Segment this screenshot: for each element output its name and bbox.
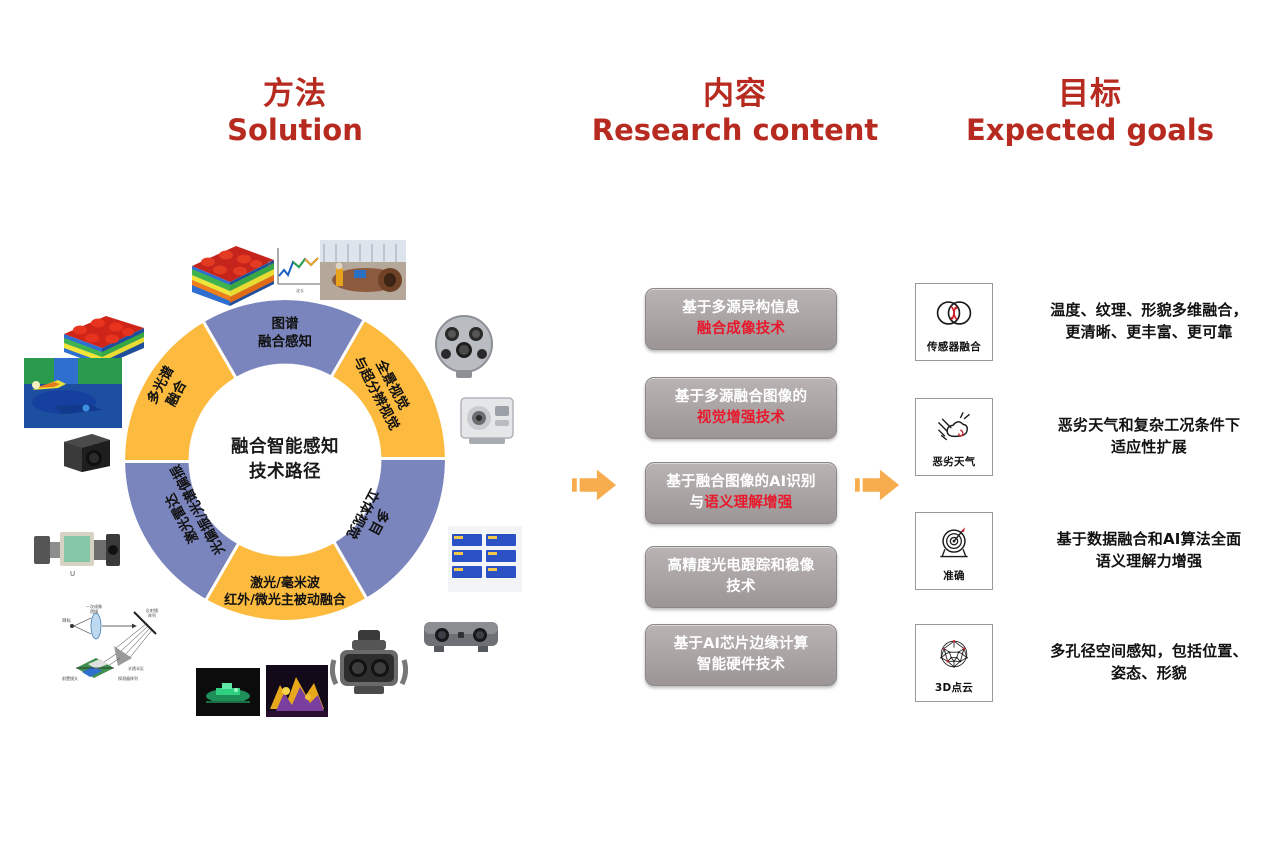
segment-top-line1: 图谱 — [258, 316, 312, 334]
donut-center-line2: 技术路径 — [231, 460, 339, 485]
donut-segment-bottom[interactable]: 激光/毫米波 红外/微光主被动融合 — [224, 576, 346, 610]
goal-row-sensor-fusion[interactable]: 传感器融合 温度、纹理、形貌多维融合， 更清晰、更丰富、更可靠 — [915, 283, 1268, 361]
research-box-4-line1: 高精度光电跟踪和稳像 — [668, 556, 815, 577]
svg-text:透镜: 透镜 — [90, 608, 98, 614]
gimbal-optoelectronic-pod-image — [330, 626, 408, 710]
research-box-5[interactable]: 基于AI芯片边缘计算 智能硬件技术 — [645, 624, 837, 686]
header-content-cn: 内容 — [575, 76, 895, 113]
header-goals-en: Expected goals — [930, 113, 1250, 147]
goal-card-sensor-fusion[interactable]: 传感器融合 — [915, 283, 993, 361]
research-box-2-line1: 基于多源融合图像的 — [675, 387, 807, 408]
goal-text-2-line2: 适应性扩展 — [1019, 437, 1268, 459]
diagram-canvas: 方法 Solution 内容 Research content 目标 Expec… — [0, 0, 1268, 866]
goal-icon-label-bad-weather: 恶劣天气 — [932, 454, 975, 469]
research-box-4[interactable]: 高精度光电跟踪和稳像 技术 — [645, 546, 837, 608]
research-box-3-line2: 语义理解增强 — [704, 495, 792, 511]
column-header-goals: 目标 Expected goals — [930, 76, 1250, 147]
industrial-camera-module-image — [58, 428, 114, 476]
spectral-response-plot-image: 强度 波长 — [268, 242, 328, 298]
column-header-content: 内容 Research content — [575, 76, 895, 147]
segment-bottom-line2: 红外/微光主被动融合 — [224, 593, 346, 610]
goal-card-bad-weather[interactable]: 恶劣天气 — [915, 398, 993, 476]
polarization-camera-image: U — [30, 520, 126, 580]
donut-segment-top[interactable]: 图谱 融合感知 — [258, 316, 312, 351]
thermal-infrared-image — [24, 358, 122, 428]
target-accuracy-icon — [933, 522, 975, 562]
research-box-3[interactable]: 基于融合图像的AI识别 与语义理解增强 — [645, 462, 837, 524]
arrow-solution-to-content — [572, 462, 618, 508]
goal-text-4-line2: 姿态、形貌 — [1019, 663, 1268, 685]
goal-icon-label-sensor-fusion: 传感器融合 — [927, 339, 981, 354]
arrow-content-to-goals — [855, 462, 901, 508]
donut-center-line1: 融合智能感知 — [231, 435, 339, 460]
goal-card-point-cloud[interactable]: 3D点云 — [915, 624, 993, 702]
research-box-2-line2: 视觉增强技术 — [675, 408, 807, 429]
sensor-fusion-icon — [933, 293, 975, 333]
research-box-1[interactable]: 基于多源异构信息 融合成像技术 — [645, 288, 837, 350]
technology-roadmap-donut: 融合智能感知 技术路径 图谱 融合感知 全景视觉 与超分辨视觉 多目 立体视觉 … — [125, 300, 445, 620]
goal-text-bad-weather: 恶劣天气和复杂工况条件下 适应性扩展 — [1019, 415, 1268, 459]
research-box-3-line2-prefix: 与 — [690, 495, 705, 511]
point-cloud-structure-image — [448, 526, 522, 592]
goal-icon-label-accuracy: 准确 — [943, 568, 965, 583]
column-header-solution: 方法 Solution — [150, 76, 440, 147]
donut-center-label: 融合智能感知 技术路径 — [231, 435, 339, 486]
svg-text:前置镜头: 前置镜头 — [62, 675, 78, 681]
goal-row-point-cloud[interactable]: 3D点云 多孔径空间感知，包括位置、 姿态、形貌 — [915, 624, 1268, 702]
point-cloud-icon — [933, 634, 975, 674]
segment-bottom-line1: 激光/毫米波 — [224, 576, 346, 593]
research-box-1-line1: 基于多源异构信息 — [682, 298, 800, 319]
goal-row-bad-weather[interactable]: 恶劣天气 恶劣天气和复杂工况条件下 适应性扩展 — [915, 398, 1268, 476]
inspection-instrument-image — [455, 388, 519, 450]
goal-row-accuracy[interactable]: 准确 基于数据融合和AI算法全面 语义理解力增强 — [915, 512, 1268, 590]
goal-text-4-line1: 多孔径空间感知，包括位置、 — [1019, 641, 1268, 663]
header-solution-cn: 方法 — [150, 76, 440, 113]
goal-text-point-cloud: 多孔径空间感知，包括位置、 姿态、形貌 — [1019, 641, 1268, 685]
header-content-en: Research content — [575, 113, 895, 147]
svg-text:强度: 强度 — [268, 260, 271, 268]
research-box-5-line1: 基于AI芯片边缘计算 — [674, 634, 809, 655]
night-vision-image — [196, 668, 260, 716]
header-goals-cn: 目标 — [930, 76, 1250, 113]
svg-text:半透半反: 半透半反 — [128, 665, 144, 671]
research-box-1-line2: 融合成像技术 — [682, 319, 800, 340]
svg-text:探测器阵列: 探测器阵列 — [118, 675, 138, 681]
segment-top-line2: 融合感知 — [258, 334, 312, 352]
thermal-scene-image — [266, 665, 328, 717]
goal-text-sensor-fusion: 温度、纹理、形貌多维融合， 更清晰、更丰富、更可靠 — [1019, 300, 1268, 344]
goal-text-3-line1: 基于数据融合和AI算法全面 — [1019, 529, 1268, 551]
goal-text-1-line2: 更清晰、更丰富、更可靠 — [1019, 322, 1268, 344]
goal-text-3-line2: 语义理解力增强 — [1019, 551, 1268, 573]
industrial-pipeline-photo-image — [320, 240, 406, 300]
research-box-3-line1: 基于融合图像的AI识别 — [666, 472, 815, 493]
header-solution-en: Solution — [150, 113, 440, 147]
research-box-5-line2: 智能硬件技术 — [674, 655, 809, 676]
goal-card-accuracy[interactable]: 准确 — [915, 512, 993, 590]
svg-text:目标: 目标 — [62, 617, 71, 624]
goal-icon-label-point-cloud: 3D点云 — [935, 680, 973, 695]
bad-weather-icon — [933, 408, 975, 448]
goal-text-accuracy: 基于数据融合和AI算法全面 语义理解力增强 — [1019, 529, 1268, 573]
research-box-2[interactable]: 基于多源融合图像的 视觉增强技术 — [645, 377, 837, 439]
goal-text-1-line1: 温度、纹理、形貌多维融合， — [1019, 300, 1268, 322]
research-box-4-line2: 技术 — [668, 577, 815, 598]
svg-text:波长: 波长 — [296, 287, 304, 293]
svg-text:U: U — [70, 570, 75, 578]
goal-text-2-line1: 恶劣天气和复杂工况条件下 — [1019, 415, 1268, 437]
